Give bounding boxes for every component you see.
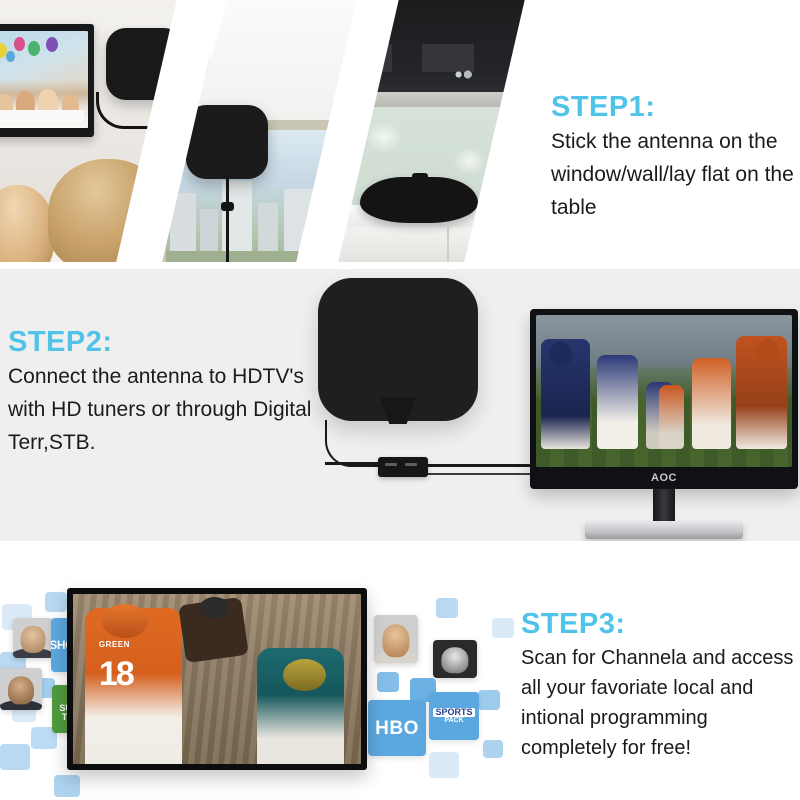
mosaic-tile (478, 690, 500, 710)
receiver-helmet (102, 604, 148, 638)
step1-heading: STEP1: (551, 92, 799, 122)
step2-body: Connect the antenna to HDTV's with HD tu… (8, 361, 338, 459)
antenna-tab (412, 173, 428, 181)
mosaic-tile (377, 672, 399, 692)
step2-heading: STEP2: (8, 327, 338, 357)
player-name: GREEN (99, 640, 130, 649)
monitor-stand-neck (653, 489, 675, 523)
monitor-stand-base (585, 521, 743, 539)
step3-body: Scan for Channela and access all your fa… (521, 643, 800, 763)
mosaic-tile (483, 740, 503, 758)
defender-helmet (283, 659, 326, 691)
amplifier-led-2 (405, 463, 417, 466)
coaxial-cable-to-tv-2 (426, 473, 538, 475)
player-number: 18 (99, 655, 133, 694)
amplifier-led-1 (385, 463, 397, 466)
mosaic-tile (45, 592, 67, 612)
monitor-brand-logo: AOC (651, 472, 677, 484)
photo-tile-actor-2 (0, 668, 42, 710)
sports-label: SPORTS (433, 708, 474, 717)
coaxial-cable-to-tv (426, 464, 538, 467)
panel-separator-1 (0, 262, 800, 269)
step3-television: GREEN 18 (67, 588, 367, 770)
step1-body: Stick the antenna on the window/wall/lay… (551, 126, 799, 224)
antenna-cable-clip (221, 202, 234, 211)
antenna-cable-vertical (226, 176, 229, 265)
signal-amplifier-box (378, 457, 428, 477)
step3-text-block: STEP3: Scan for Channela and access all … (521, 609, 800, 763)
step3-heading: STEP3: (521, 609, 800, 639)
photo-tile-bw-film-still (433, 640, 477, 678)
photo-tile-actress (374, 615, 418, 663)
channel-tile-hbo[interactable]: HBO (368, 700, 426, 756)
antenna-lead-cable-run (325, 462, 381, 465)
photo-tile-actor-1 (13, 618, 53, 658)
tv-screen-image (0, 31, 88, 128)
panel-separator-2 (0, 541, 800, 557)
mosaic-tile (492, 618, 514, 638)
mosaic-tile (0, 744, 30, 770)
aoc-monitor: AOC (530, 309, 798, 489)
step2-text-block: STEP2: Connect the antenna to HDTV's wit… (8, 327, 338, 459)
mosaic-tile (436, 598, 458, 618)
pack-sublabel: PACK (433, 717, 474, 724)
football (200, 597, 229, 617)
hbo-label: HBO (375, 718, 419, 739)
channel-tile-sports-pack[interactable]: SPORTS PACK (429, 692, 479, 740)
television-screen: GREEN 18 (73, 594, 361, 764)
mosaic-tile (54, 775, 80, 797)
antenna-on-window (186, 105, 268, 179)
step1-text-block: STEP1: Stick the antenna on the window/w… (551, 92, 799, 224)
wall-mounted-tv (0, 24, 94, 137)
antenna-flat-on-table (360, 177, 478, 223)
monitor-screen (536, 315, 792, 467)
infographic-page: STEP1: Stick the antenna on the window/w… (0, 0, 800, 800)
step1-panel: STEP1: Stick the antenna on the window/w… (0, 0, 800, 265)
mosaic-tile (429, 752, 459, 778)
